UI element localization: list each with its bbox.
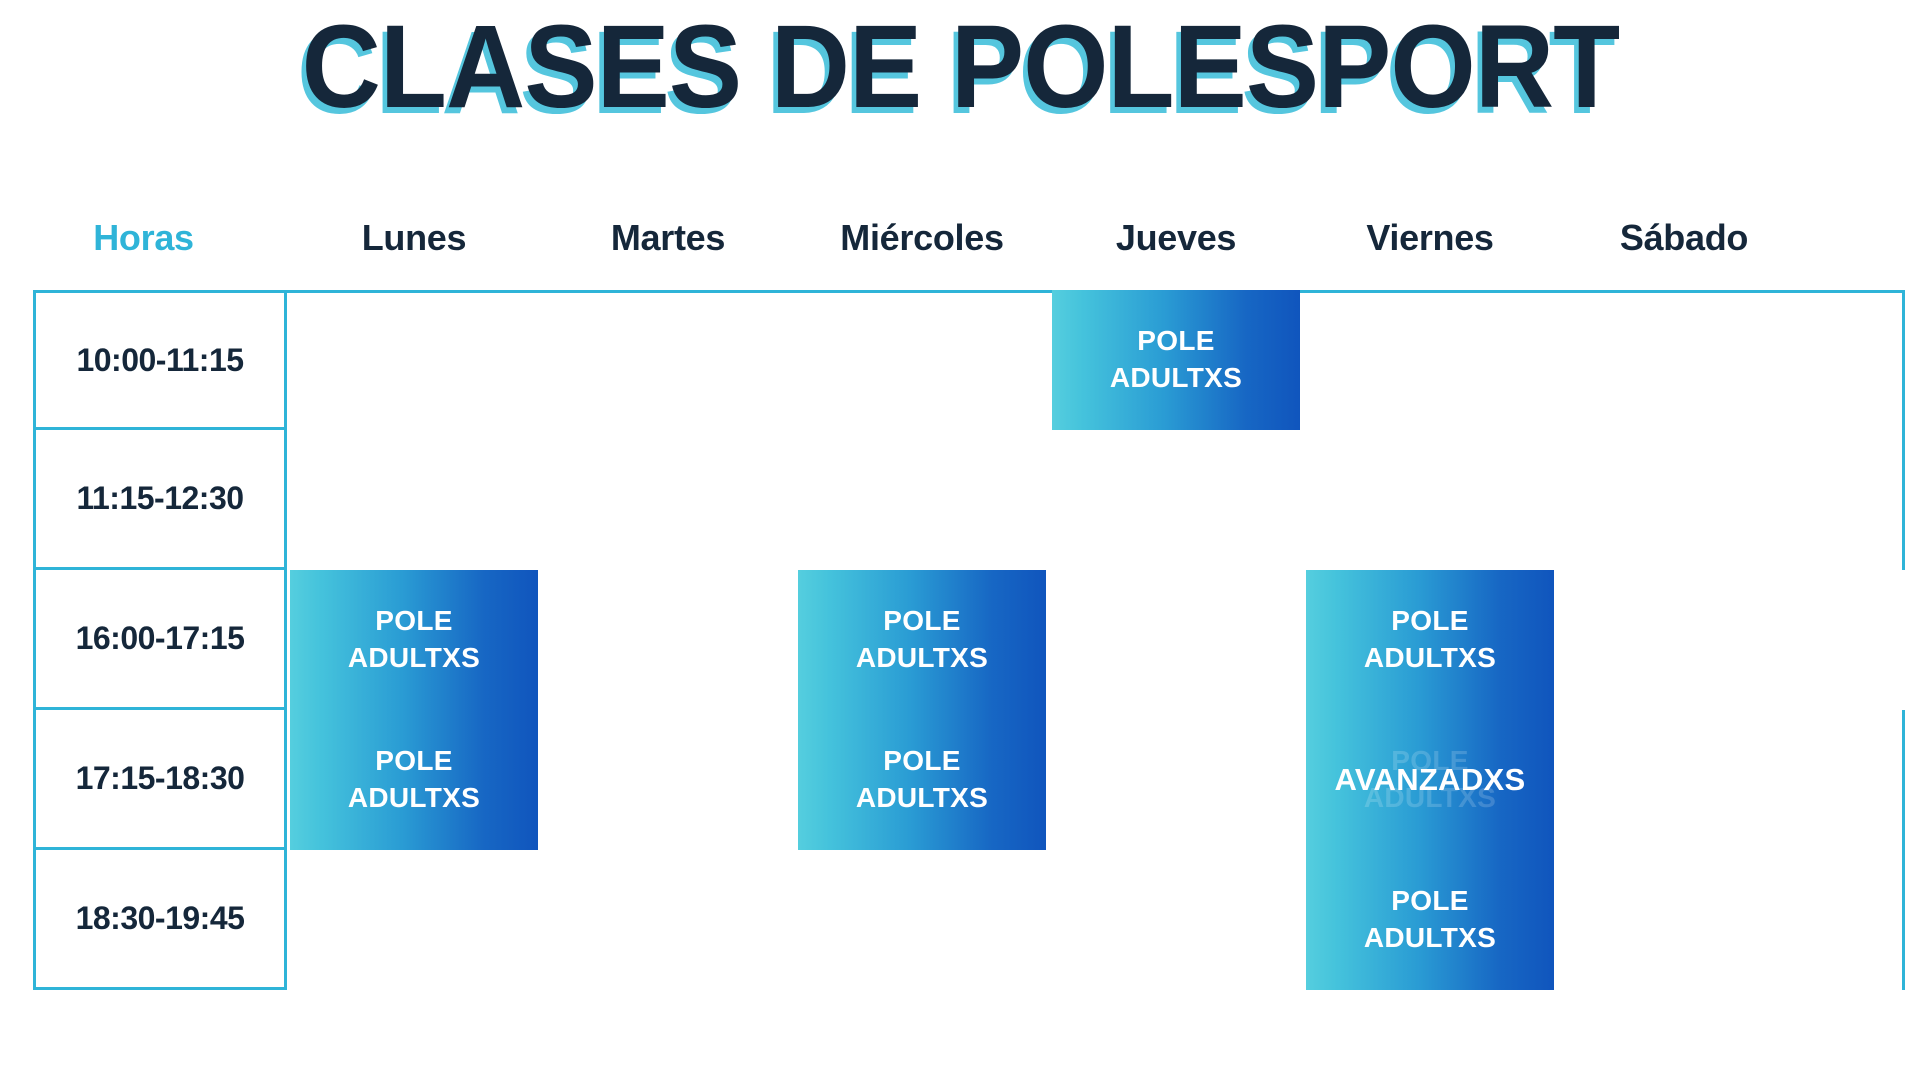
class-block-line2: ADULTXS	[348, 640, 480, 677]
slot-lunes-1000[interactable]	[287, 290, 541, 430]
class-block-line2: ADULTXS	[1110, 360, 1242, 397]
slot-miercoles-1715[interactable]: POLE ADULTXS	[795, 710, 1049, 850]
slot-jueves-1715[interactable]	[1049, 710, 1303, 850]
table-row: 16:00-17:15 POLE ADULTXS POLE ADULTXS PO…	[33, 570, 1905, 710]
slot-viernes-1000[interactable]	[1303, 290, 1557, 430]
header-day-martes: Martes	[541, 210, 795, 266]
class-block[interactable]: POLE ADULTXS	[1306, 570, 1554, 710]
class-block-line2: ADULTXS	[856, 780, 988, 817]
slot-lunes-1715[interactable]: POLE ADULTXS	[287, 710, 541, 850]
class-block-line1: POLE	[1137, 323, 1214, 360]
schedule-grid: 10:00-11:15 POLE ADULTXS 11:15-12:30	[33, 290, 1905, 990]
class-block-line1: POLE	[1391, 883, 1468, 920]
class-block[interactable]: POLE ADULTXS	[290, 570, 538, 710]
slot-sabado-1115[interactable]	[1557, 430, 1811, 570]
slot-viernes-1715[interactable]: POLE ADULTXS AVANZADXS	[1303, 710, 1557, 850]
class-block-overlay-label: AVANZADXS	[1334, 760, 1525, 801]
slot-viernes-1830[interactable]: POLE ADULTXS	[1303, 850, 1557, 990]
grid-frame-right-upper	[1902, 290, 1905, 570]
class-block[interactable]: POLE ADULTXS	[290, 710, 538, 850]
schedule-poster: CLASES DE POLESPORT Horas Lunes Martes M…	[0, 0, 1920, 1080]
time-slot-cell: 17:15-18:30	[33, 707, 287, 850]
slot-miercoles-1115[interactable]	[795, 430, 1049, 570]
class-block[interactable]: POLE ADULTXS	[1306, 850, 1554, 990]
slot-miercoles-1600[interactable]: POLE ADULTXS	[795, 570, 1049, 710]
time-slot-cell: 18:30-19:45	[33, 847, 287, 990]
header-day-lunes: Lunes	[287, 210, 541, 266]
class-block[interactable]: POLE ADULTXS	[798, 570, 1046, 710]
header-day-miercoles: Miércoles	[795, 210, 1049, 266]
slot-jueves-1000[interactable]: POLE ADULTXS	[1049, 290, 1303, 430]
class-block-avanzadxs[interactable]: POLE ADULTXS AVANZADXS	[1306, 710, 1554, 850]
class-block-line1: POLE	[883, 743, 960, 780]
table-row: 17:15-18:30 POLE ADULTXS POLE ADULTXS PO…	[33, 710, 1905, 850]
header-hours-label: Horas	[0, 210, 287, 266]
header-day-sabado: Sábado	[1557, 210, 1811, 266]
slot-jueves-1115[interactable]	[1049, 430, 1303, 570]
slot-sabado-1715[interactable]	[1557, 710, 1811, 850]
table-row: 11:15-12:30	[33, 430, 1905, 570]
grid-frame-right-lower	[1902, 710, 1905, 990]
header-day-jueves: Jueves	[1049, 210, 1303, 266]
class-block[interactable]: POLE ADULTXS	[1052, 290, 1300, 430]
slot-lunes-1600[interactable]: POLE ADULTXS	[287, 570, 541, 710]
slot-martes-1115[interactable]	[541, 430, 795, 570]
class-block[interactable]: POLE ADULTXS	[798, 710, 1046, 850]
slot-viernes-1115[interactable]	[1303, 430, 1557, 570]
slot-martes-1000[interactable]	[541, 290, 795, 430]
class-block-line2: ADULTXS	[348, 780, 480, 817]
slot-viernes-1600[interactable]: POLE ADULTXS	[1303, 570, 1557, 710]
class-block-line1: POLE	[1391, 603, 1468, 640]
grid-frame-top	[33, 290, 1905, 293]
slot-miercoles-1000[interactable]	[795, 290, 1049, 430]
slot-sabado-1600[interactable]	[1557, 570, 1811, 710]
header-day-viernes: Viernes	[1303, 210, 1557, 266]
class-block-line1: POLE	[375, 743, 452, 780]
time-slot-cell: 11:15-12:30	[33, 427, 287, 570]
slot-martes-1715[interactable]	[541, 710, 795, 850]
slot-martes-1600[interactable]	[541, 570, 795, 710]
page-title-area: CLASES DE POLESPORT	[0, 8, 1920, 126]
time-slot-cell: 16:00-17:15	[33, 567, 287, 710]
slot-martes-1830[interactable]	[541, 850, 795, 990]
table-row: 10:00-11:15 POLE ADULTXS	[33, 290, 1905, 430]
slot-jueves-1830[interactable]	[1049, 850, 1303, 990]
slot-sabado-1000[interactable]	[1557, 290, 1811, 430]
schedule-header-row: Horas Lunes Martes Miércoles Jueves Vier…	[0, 210, 1920, 266]
table-row: 18:30-19:45 POLE ADULTXS	[33, 850, 1905, 990]
class-block-line2: ADULTXS	[856, 640, 988, 677]
page-title: CLASES DE POLESPORT	[301, 8, 1619, 126]
slot-lunes-1830[interactable]	[287, 850, 541, 990]
time-slot-cell: 10:00-11:15	[33, 290, 287, 430]
slot-jueves-1600[interactable]	[1049, 570, 1303, 710]
class-block-line2: ADULTXS	[1364, 920, 1496, 957]
slot-sabado-1830[interactable]	[1557, 850, 1811, 990]
class-block-line1: POLE	[883, 603, 960, 640]
class-block-line2: ADULTXS	[1364, 640, 1496, 677]
class-block-line1: POLE	[375, 603, 452, 640]
slot-lunes-1115[interactable]	[287, 430, 541, 570]
slot-miercoles-1830[interactable]	[795, 850, 1049, 990]
